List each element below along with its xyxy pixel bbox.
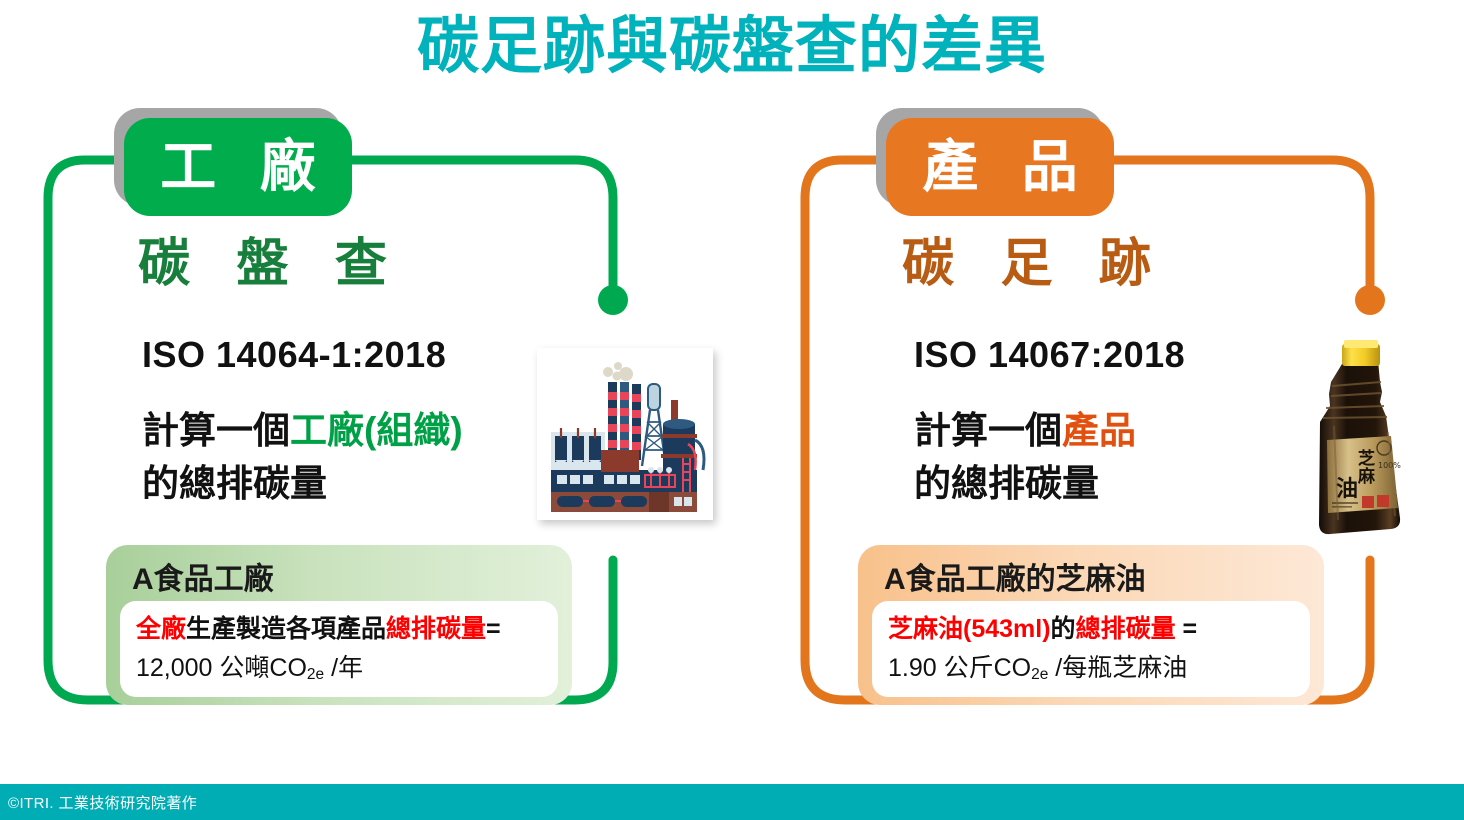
description-left: 計算一個工廠(組織) 的總排碳量 (142, 405, 463, 510)
heading-carbon-inventory: 碳 盤 查 (138, 236, 403, 293)
example-left-red-a: 全廠 (136, 615, 186, 643)
svg-text:芝: 芝 (1358, 448, 1375, 469)
description-right-highlight: 產品 (1062, 410, 1136, 451)
example-right-black-a: 的 (1051, 615, 1076, 643)
sesame-oil-bottle: 芝 麻 油 100% (1296, 336, 1414, 538)
slide-root: 碳足跡與碳盤查的差異 工 廠 碳 盤 查 ISO 14064-1:2018 計算… (0, 0, 1464, 820)
example-right-subscript: 2e (1031, 666, 1048, 683)
example-card-factory-title: A食品工廠 (132, 554, 274, 598)
panel-factory: 工 廠 碳 盤 查 ISO 14064-1:2018 計算一個工廠(組織) 的總… (10, 0, 710, 820)
example-right-unit: /每瓶芝麻油 (1048, 654, 1187, 682)
description-right-line1: 計算一個產品 (914, 405, 1136, 458)
example-left-unit: /年 (324, 654, 363, 682)
badge-factory-label: 工 廠 (124, 118, 352, 216)
footer-copyright: ©ITRI. 工業技術研究院著作 (0, 784, 1464, 820)
example-left-line2: 12,000 公噸CO2e /年 (136, 649, 542, 688)
description-right-pre: 計算一個 (914, 410, 1062, 451)
badge-factory[interactable]: 工 廠 (114, 108, 352, 216)
footer-text: ©ITRI. 工業技術研究院著作 (8, 792, 197, 813)
example-right-red-b: 總排碳量 (1076, 615, 1176, 643)
example-left-red-b: 總排碳量 (386, 615, 486, 643)
example-left-black-b: = (486, 615, 501, 643)
badge-product[interactable]: 產 品 (876, 108, 1114, 216)
example-left-line1: 全廠生產製造各項產品總排碳量= (136, 610, 542, 649)
heading-carbon-footprint: 碳 足 跡 (902, 236, 1167, 293)
example-card-factory: A食品工廠 全廠生產製造各項產品總排碳量= 12,000 公噸CO2e /年 (106, 545, 572, 705)
description-left-pre: 計算一個 (142, 410, 290, 451)
example-left-subscript: 2e (307, 666, 324, 683)
example-right-red-a: 芝麻油(543ml) (888, 615, 1051, 643)
example-right-value: 1.90 公斤CO (888, 654, 1031, 682)
description-right-line2: 的總排碳量 (914, 458, 1136, 511)
example-card-product-body: 芝麻油(543ml)的總排碳量 = 1.90 公斤CO2e /每瓶芝麻油 (872, 601, 1310, 697)
example-card-factory-body: 全廠生產製造各項產品總排碳量= 12,000 公噸CO2e /年 (120, 601, 558, 697)
description-right: 計算一個產品 的總排碳量 (914, 405, 1136, 510)
example-left-value: 12,000 公噸CO (136, 654, 307, 682)
svg-text:麻: 麻 (1357, 466, 1376, 487)
example-right-line2: 1.90 公斤CO2e /每瓶芝麻油 (888, 649, 1294, 688)
bracket-endpoint-dot (598, 285, 628, 315)
iso-standard-right: ISO 14067:2018 (914, 334, 1185, 376)
badge-product-label: 產 品 (886, 118, 1114, 216)
example-right-black-b: = (1176, 615, 1198, 643)
description-left-highlight: 工廠(組織) (290, 410, 463, 451)
example-left-black-a: 生產製造各項產品 (186, 615, 386, 643)
factory-illustration (537, 348, 713, 520)
description-left-line1: 計算一個工廠(組織) (142, 405, 463, 458)
bracket-endpoint-dot (1355, 285, 1385, 315)
iso-standard-left: ISO 14064-1:2018 (142, 334, 446, 376)
svg-text:油: 油 (1336, 477, 1358, 502)
example-right-line1: 芝麻油(543ml)的總排碳量 = (888, 610, 1294, 649)
description-left-line2: 的總排碳量 (142, 458, 463, 511)
example-card-product: A食品工廠的芝麻油 芝麻油(543ml)的總排碳量 = 1.90 公斤CO2e … (858, 545, 1324, 705)
example-card-product-title: A食品工廠的芝麻油 (884, 554, 1146, 598)
